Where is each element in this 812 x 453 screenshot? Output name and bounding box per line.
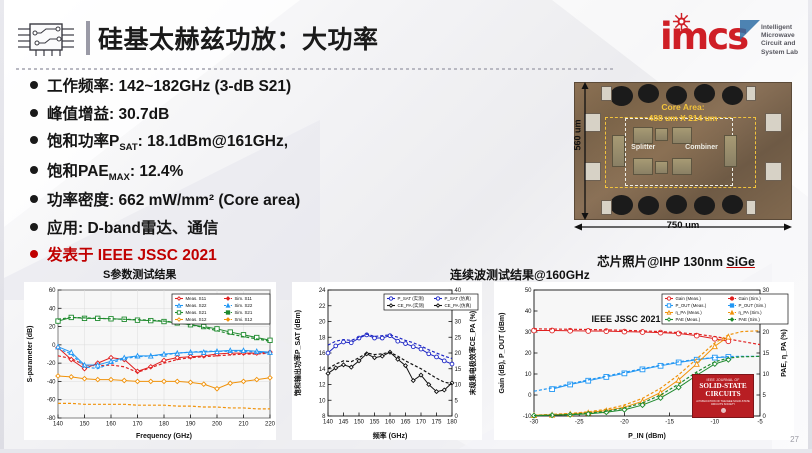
bond-pad (638, 196, 660, 215)
svg-text:180: 180 (159, 422, 170, 428)
list-item: 功率密度: 662 mW/mm² (Core area) (30, 188, 450, 210)
s-param-section-title: S参数测试结果 (103, 266, 176, 282)
bullet-text-prefix: 饱和功率P (47, 133, 119, 150)
svg-text:P_SAT (实测): P_SAT (实测) (398, 295, 425, 302)
header-divider (16, 68, 616, 70)
svg-text:-60: -60 (47, 398, 56, 404)
svg-text:12: 12 (319, 383, 326, 389)
svg-text:210: 210 (238, 422, 249, 428)
svg-text:-5: -5 (757, 420, 763, 426)
svg-text:Sim. S22: Sim. S22 (235, 303, 253, 308)
svg-text:40: 40 (49, 306, 56, 312)
svg-text:155: 155 (369, 420, 380, 426)
bullet-text-sub: MAX (109, 172, 130, 183)
chip-height-dimension: 560 um (574, 82, 596, 220)
svg-text:Meas. S11: Meas. S11 (186, 296, 207, 301)
logo-swoosh-icon (740, 20, 760, 40)
bullet-dot-icon (30, 109, 38, 117)
svg-text:CE_PA (实测): CE_PA (实测) (398, 302, 425, 309)
cw-160ghz-chart: -30-25-20-15-10-5-1001020304050051015202… (494, 282, 794, 440)
svg-text:220: 220 (265, 422, 276, 428)
chip-width-dimension: 750 um (574, 220, 792, 235)
svg-text:η_PA (Meas.): η_PA (Meas.) (676, 310, 703, 315)
bullet-text-prefix: 饱和PAE (47, 163, 109, 180)
bond-pad (694, 84, 716, 103)
svg-text:-20: -20 (620, 420, 629, 426)
core-area-label-line1: Core Area: (575, 102, 791, 112)
logo-tagline: Intelligent Microwave Circuit and System… (761, 16, 798, 57)
svg-text:20: 20 (763, 330, 770, 336)
input-network (612, 135, 625, 168)
jssc-badge-dot-icon (721, 408, 726, 413)
svg-text:PAE (Meas.): PAE (Meas.) (676, 317, 701, 322)
chip-caption-process: SiGe (726, 255, 755, 269)
svg-text:20: 20 (455, 351, 462, 357)
svg-text:-40: -40 (47, 379, 56, 385)
list-item: 工作频率: 142~182GHz (3-dB S21) (30, 74, 450, 96)
bullet-dot-icon (30, 136, 38, 144)
svg-text:20: 20 (319, 320, 326, 326)
bullet-list: 工作频率: 142~182GHz (3-dB S21) 峰值增益: 30.7dB… (30, 74, 450, 271)
amplifier-cell (672, 127, 691, 145)
svg-text:200: 200 (212, 422, 223, 428)
svg-text:饱和输出功率P_SAT (dBm): 饱和输出功率P_SAT (dBm) (293, 310, 302, 396)
page-number: 27 (790, 435, 799, 444)
svg-text:145: 145 (338, 420, 349, 426)
logo-tagline-line-1: Intelligent (761, 24, 798, 32)
svg-text:P_OUT (Sim.): P_OUT (Sim.) (739, 303, 767, 308)
svg-text:170: 170 (132, 422, 143, 428)
circuit-chip-icon (14, 18, 78, 58)
core-area-label-line2: 488 um X 214 um (575, 113, 791, 123)
svg-text:50: 50 (525, 288, 532, 294)
svg-text:Meas. S21: Meas. S21 (186, 310, 208, 315)
svg-text:Frequency (GHz): Frequency (GHz) (136, 433, 192, 440)
bullet-text: 功率密度: 662 mW/mm² (Core area) (47, 188, 300, 210)
svg-text:20: 20 (525, 351, 532, 357)
bullet-dot-icon (30, 195, 38, 203)
chip-height-value: 560 um (573, 119, 583, 150)
svg-text:-10: -10 (710, 420, 719, 426)
svg-text:165: 165 (400, 420, 411, 426)
logo-tagline-line-3: Circuit and (761, 40, 798, 48)
chip-photo-wrap: Core Area: 488 um X 214 um Splitter Comb… (574, 82, 792, 220)
svg-text:-80: -80 (47, 416, 56, 422)
svg-text:-15: -15 (665, 420, 674, 426)
psat-vs-frequency-chart: 1401451501551601651701751808101214161820… (292, 282, 482, 440)
amplifier-cell (672, 158, 691, 176)
cw-section-title: 连续波测试结果@160GHz (450, 266, 590, 283)
svg-text:22: 22 (319, 304, 326, 310)
logo-mark: imcs (660, 16, 756, 62)
list-item: 应用: D-band雷达、通信 (30, 216, 450, 238)
svg-text:Smi. S12: Smi. S12 (235, 317, 253, 322)
amplifier-cell (655, 161, 668, 175)
jssc-badge-line3: CIRCUITS (693, 390, 753, 398)
list-item-highlighted: 发表于 IEEE JSSC 2021 (30, 243, 450, 265)
combiner-label: Combiner (685, 144, 718, 151)
bullet-text: 应用: D-band雷达、通信 (47, 216, 218, 238)
svg-text:10: 10 (455, 383, 462, 389)
svg-text:160: 160 (385, 420, 396, 426)
jssc-badge-line4: A PUBLICATION OF THE IEEE SOLID-STATE CI… (693, 400, 753, 406)
svg-text:60: 60 (49, 288, 56, 294)
svg-text:190: 190 (185, 422, 196, 428)
svg-text:160: 160 (106, 422, 117, 428)
bullet-dot-icon (30, 250, 38, 258)
svg-text:频率 (GHz): 频率 (GHz) (373, 431, 408, 440)
svg-text:15: 15 (455, 367, 462, 373)
logo-tagline-line-2: Microwave (761, 32, 798, 40)
title-divider (86, 21, 90, 55)
svg-text:25: 25 (455, 335, 462, 341)
svg-text:40: 40 (525, 309, 532, 315)
bullet-text: 饱和功率PSAT: 18.1dBm@161GHz, (47, 129, 288, 153)
logo-tagline-line-4: System Lab (761, 49, 798, 57)
bullet-dot-icon (30, 223, 38, 231)
svg-text:CE_PA (仿真): CE_PA (仿真) (445, 302, 472, 309)
svg-text:40: 40 (455, 288, 462, 294)
list-item: 饱和功率PSAT: 18.1dBm@161GHz, (30, 129, 450, 153)
bullet-text-suffix: : 18.1dBm@161GHz, (138, 133, 288, 150)
output-network (724, 135, 737, 168)
svg-text:15: 15 (763, 351, 770, 357)
svg-text:-30: -30 (530, 420, 539, 426)
svg-text:末级集电极效率CE_PA (%): 末级集电极效率CE_PA (%) (468, 311, 477, 395)
svg-text:150: 150 (354, 420, 365, 426)
bond-pad (610, 195, 634, 215)
svg-text:-25: -25 (575, 420, 584, 426)
list-item: 峰值增益: 30.7dB (30, 102, 450, 124)
bullet-text: 工作频率: 142~182GHz (3-dB S21) (47, 74, 291, 96)
svg-text:S-parameter (dB): S-parameter (dB) (27, 326, 34, 383)
slide-edge-left (0, 0, 4, 453)
svg-text:175: 175 (431, 420, 442, 426)
bullet-text: 饱和PAEMAX: 12.4% (47, 159, 183, 183)
svg-text:30: 30 (455, 320, 462, 326)
bond-pad (694, 196, 716, 215)
svg-text:10: 10 (763, 372, 770, 378)
svg-text:Gain (Sim.): Gain (Sim.) (739, 296, 762, 301)
svg-text:η_PA (Sim.): η_PA (Sim.) (739, 310, 763, 315)
svg-text:Sim. S21: Sim. S21 (235, 310, 253, 315)
bullet-text-suffix: : 12.4% (130, 163, 183, 180)
svg-text:-20: -20 (47, 361, 56, 367)
svg-text:PAE, η_PA (%): PAE, η_PA (%) (781, 329, 788, 377)
bond-pad (666, 195, 688, 214)
svg-text:30: 30 (763, 288, 770, 294)
svg-text:150: 150 (79, 422, 90, 428)
imcs-lab-logo: imcs Intelligent Microwave Circuit and S… (660, 16, 798, 62)
probe-pad (746, 86, 757, 101)
list-item: 饱和PAEMAX: 12.4% (30, 159, 450, 183)
svg-text:P_OUT (Meas.): P_OUT (Meas.) (676, 303, 707, 308)
jssc-badge-line2: SOLID-STATE (693, 382, 753, 390)
svg-text:PAE (Sim.): PAE (Sim.) (739, 317, 761, 322)
s-parameter-chart: 140150160170180190200210220-80-60-40-200… (24, 282, 276, 440)
svg-text:180: 180 (447, 420, 458, 426)
svg-text:24: 24 (319, 288, 326, 294)
bullet-dot-icon (30, 166, 38, 174)
bond-pad (722, 195, 744, 214)
svg-text:10: 10 (525, 372, 532, 378)
probe-pad (765, 162, 782, 181)
chip-width-value: 750 um (574, 220, 792, 231)
slide-edge-right (808, 0, 812, 453)
svg-text:Gain (Meas.): Gain (Meas.) (676, 296, 702, 301)
svg-text:18: 18 (319, 335, 326, 341)
svg-text:Meas. S12: Meas. S12 (186, 317, 208, 322)
slide-edge-bottom (0, 449, 812, 453)
probe-pad (601, 200, 612, 215)
svg-text:-10: -10 (523, 414, 532, 420)
probe-pad (601, 86, 612, 101)
svg-text:140: 140 (323, 420, 334, 426)
amplifier-cell (633, 127, 652, 145)
svg-text:30: 30 (525, 330, 532, 336)
bond-pad (638, 84, 660, 103)
svg-text:Meas. S22: Meas. S22 (186, 303, 208, 308)
bullet-text-sub: SAT (119, 142, 137, 153)
chip-caption-text: 芯片照片@IHP 130nm (597, 255, 726, 269)
svg-text:Sim. S11: Sim. S11 (235, 296, 253, 301)
probe-pad (746, 200, 757, 215)
svg-text:P_IN (dBm): P_IN (dBm) (628, 433, 666, 440)
bullet-text: 发表于 IEEE JSSC 2021 (47, 243, 217, 265)
svg-text:P_SAT (仿真): P_SAT (仿真) (445, 295, 472, 302)
svg-text:14: 14 (319, 367, 326, 373)
bullet-dot-icon (30, 81, 38, 89)
svg-text:Gain (dB), P_OUT (dBm): Gain (dB), P_OUT (dBm) (499, 313, 506, 394)
amplifier-cell (655, 128, 668, 142)
svg-text:20: 20 (49, 325, 56, 331)
chip-micrograph: Core Area: 488 um X 214 um Splitter Comb… (574, 82, 792, 220)
jssc-cover-badge: IEEE JOURNAL OFSOLID-STATECIRCUITSA PUBL… (692, 374, 754, 418)
svg-text:IEEE JSSC 2021: IEEE JSSC 2021 (591, 314, 660, 324)
svg-text:170: 170 (416, 420, 427, 426)
page-title: 硅基太赫兹功放：大功率 (98, 20, 379, 56)
splitter-label: Splitter (631, 144, 655, 151)
amplifier-cell (633, 158, 652, 176)
svg-text:140: 140 (53, 422, 64, 428)
svg-text:10: 10 (319, 398, 326, 404)
chip-photo-block: Core Area: 488 um X 214 um Splitter Comb… (552, 82, 800, 270)
bullet-text: 峰值增益: 30.7dB (47, 102, 169, 124)
sun-icon (672, 12, 691, 31)
slide-header: 硅基太赫兹功放：大功率 (14, 18, 379, 58)
svg-text:16: 16 (319, 351, 326, 357)
